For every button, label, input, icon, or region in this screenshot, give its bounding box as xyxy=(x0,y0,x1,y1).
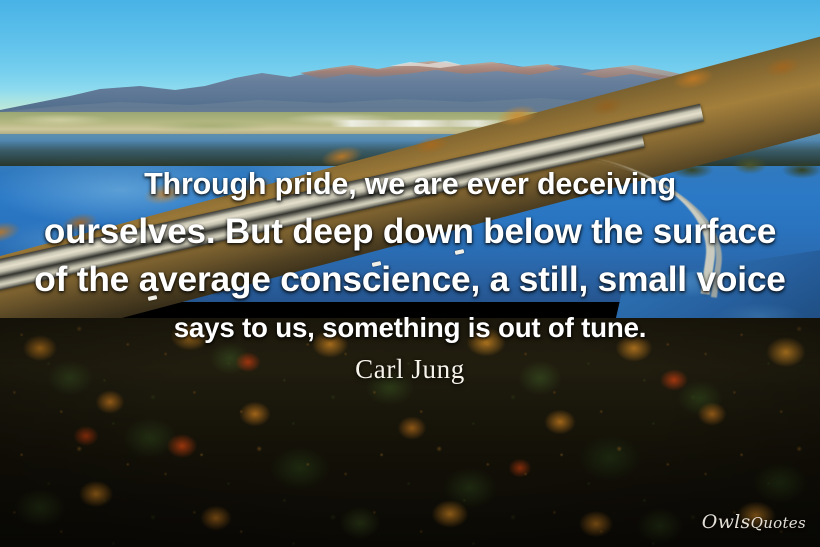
watermark-owls: Owls xyxy=(702,511,751,533)
quote-line-4: says to us, something is out of tune. xyxy=(0,304,820,352)
quote-poster: Through pride, we are ever deceiving our… xyxy=(0,0,820,547)
quote-author: Carl Jung xyxy=(0,353,820,385)
watermark-logo: OwlsQuotes xyxy=(702,511,806,533)
quote-line-3: of the average conscience, a still, smal… xyxy=(0,256,820,304)
quote-line-2: ourselves. But deep down below the surfa… xyxy=(0,208,820,256)
quote-text-block: Through pride, we are ever deceiving our… xyxy=(0,160,820,352)
quote-line-1: Through pride, we are ever deceiving xyxy=(0,160,820,208)
watermark-quotes: Quotes xyxy=(751,514,806,532)
